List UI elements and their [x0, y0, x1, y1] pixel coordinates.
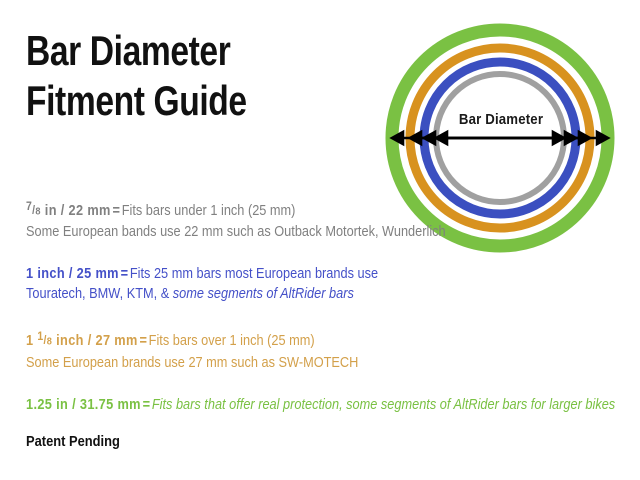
patent-pending-note: Patent Pending	[26, 433, 542, 451]
spec-description: Fits 25 mm bars most European brands use	[130, 266, 378, 282]
spec-subtext: Touratech, BMW, KTM, &	[26, 286, 173, 302]
spec-equals: =	[119, 266, 130, 282]
fitment-spec-list: 7/8 in / 22 mm=Fits bars under 1 inch (2…	[26, 196, 626, 451]
spec-size: 1 inch / 25 mm	[26, 266, 119, 282]
spec-item-25mm: 1 inch / 25 mm=Fits 25 mm bars most Euro…	[26, 264, 626, 304]
spec-subtext-italic: some segments of AltRider bars	[173, 286, 354, 302]
spec-equals: =	[138, 333, 149, 349]
spec-item-31-75mm: 1.25 in / 31.75 mm=Fits bars that offer …	[26, 395, 626, 415]
slide-root: Bar Diameter Fitment Guide	[0, 0, 640, 480]
spec-description: Fits bars that offer real protection, so…	[152, 397, 615, 413]
title-line-2: Fitment Guide	[26, 76, 298, 126]
diagram-label: Bar Diameter	[391, 111, 611, 128]
spec-primary-line: 7/8 in / 22 mm=Fits bars under 1 inch (2…	[26, 196, 554, 222]
spec-size: 1 1/8 inch / 27 mm	[26, 333, 138, 349]
spec-item-22mm: 7/8 in / 22 mm=Fits bars under 1 inch (2…	[26, 196, 626, 242]
spec-equals: =	[141, 397, 152, 413]
fraction-1-8: 1/8	[37, 333, 52, 347]
spec-primary-line: 1.25 in / 31.75 mm=Fits bars that offer …	[26, 395, 554, 415]
spec-item-27mm: 1 1/8 inch / 27 mm=Fits bars over 1 inch…	[26, 326, 626, 372]
spec-equals: =	[111, 203, 122, 219]
spec-subtext: Some European bands use 22 mm such as Ou…	[26, 224, 446, 240]
title-line-1: Bar Diameter	[26, 26, 298, 76]
spec-description: Fits bars under 1 inch (25 mm)	[122, 203, 296, 219]
spec-primary-line: 1 inch / 25 mm=Fits 25 mm bars most Euro…	[26, 264, 554, 284]
spec-description: Fits bars over 1 inch (25 mm)	[149, 333, 315, 349]
spec-primary-line: 1 1/8 inch / 27 mm=Fits bars over 1 inch…	[26, 326, 554, 352]
page-title: Bar Diameter Fitment Guide	[26, 26, 366, 126]
spec-size: 7/8 in / 22 mm	[26, 203, 111, 219]
fraction-7-8: 7/8	[26, 203, 41, 217]
spec-size: 1.25 in / 31.75 mm	[26, 397, 141, 413]
spec-secondary-line: Some European brands use 27 mm such as S…	[26, 353, 554, 373]
spec-secondary-line: Touratech, BMW, KTM, & some segments of …	[26, 284, 554, 304]
spec-secondary-line: Some European bands use 22 mm such as Ou…	[26, 222, 554, 242]
spec-subtext: Some European brands use 27 mm such as S…	[26, 355, 358, 371]
